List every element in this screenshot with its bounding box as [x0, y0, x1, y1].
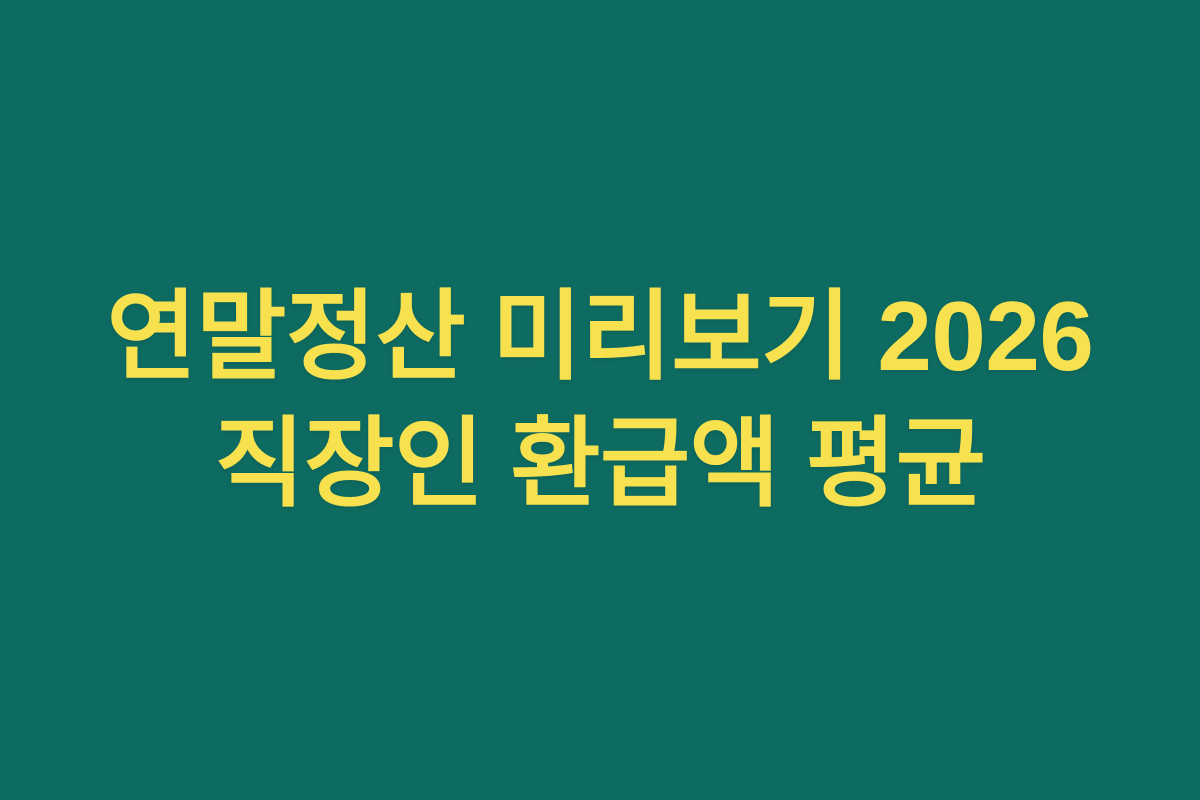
headline-line-1: 연말정산 미리보기 2026	[107, 273, 1094, 400]
headline-block: 연말정산 미리보기 2026 직장인 환급액 평균	[0, 273, 1200, 528]
headline-line-2: 직장인 환급액 평균	[215, 400, 986, 527]
banner-canvas: 연말정산 미리보기 2026 직장인 환급액 평균	[0, 0, 1200, 800]
